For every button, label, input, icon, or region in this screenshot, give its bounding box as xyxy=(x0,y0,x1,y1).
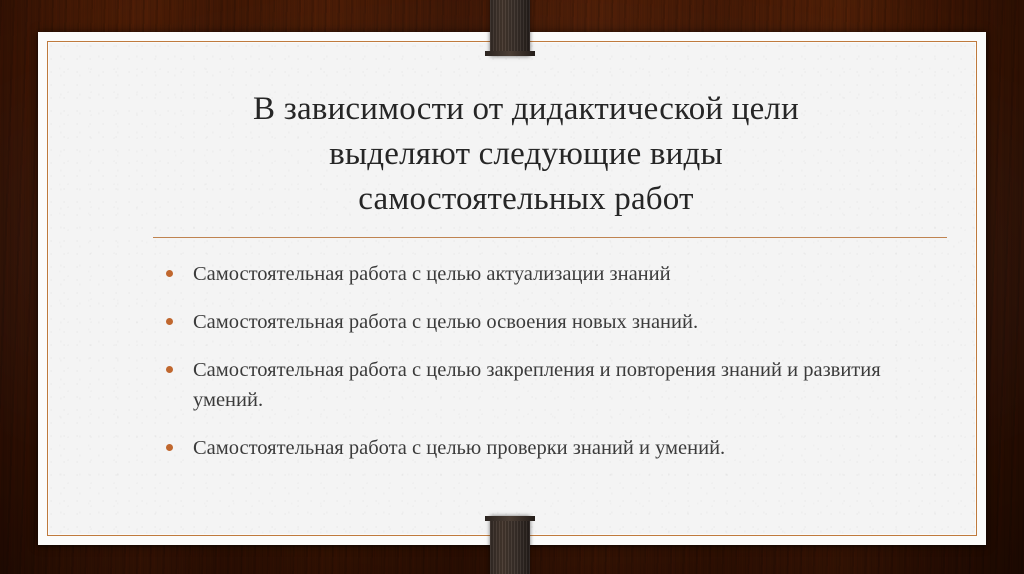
title-divider xyxy=(153,237,947,238)
bottom-clip-flange xyxy=(485,516,535,521)
bullet-dot-icon xyxy=(166,444,173,451)
list-item-text: Самостоятельная работа с целью освоения … xyxy=(193,311,698,333)
top-clip-decoration xyxy=(490,0,530,56)
list-item: Самостоятельная работа с целью проверки … xyxy=(153,433,953,463)
bullet-dot-icon xyxy=(166,318,173,325)
paper-surface: В зависимости от дидактической цели выде… xyxy=(49,43,975,534)
bottom-clip-decoration xyxy=(490,516,530,574)
bullet-list: Самостоятельная работа с целью актуализа… xyxy=(153,259,953,481)
list-item-text: Самостоятельная работа с целью проверки … xyxy=(193,437,725,459)
title-line-3: самостоятельных работ xyxy=(119,177,933,222)
list-item: Самостоятельная работа с целью закреплен… xyxy=(153,355,953,415)
title-line-1: В зависимости от дидактической цели xyxy=(119,87,933,132)
title-line-2: выделяют следующие виды xyxy=(119,132,933,177)
list-item-text: Самостоятельная работа с целью закреплен… xyxy=(193,359,881,411)
bullet-dot-icon xyxy=(166,270,173,277)
slide-frame: В зависимости от дидактической цели выде… xyxy=(38,32,986,545)
presentation-slide: В зависимости от дидактической цели выде… xyxy=(0,0,1024,574)
list-item: Самостоятельная работа с целью актуализа… xyxy=(153,259,953,289)
list-item-text: Самостоятельная работа с целью актуализа… xyxy=(193,263,671,285)
page-title: В зависимости от дидактической цели выде… xyxy=(119,87,933,222)
bullet-dot-icon xyxy=(166,366,173,373)
top-clip-flange xyxy=(485,51,535,56)
list-item: Самостоятельная работа с целью освоения … xyxy=(153,307,953,337)
